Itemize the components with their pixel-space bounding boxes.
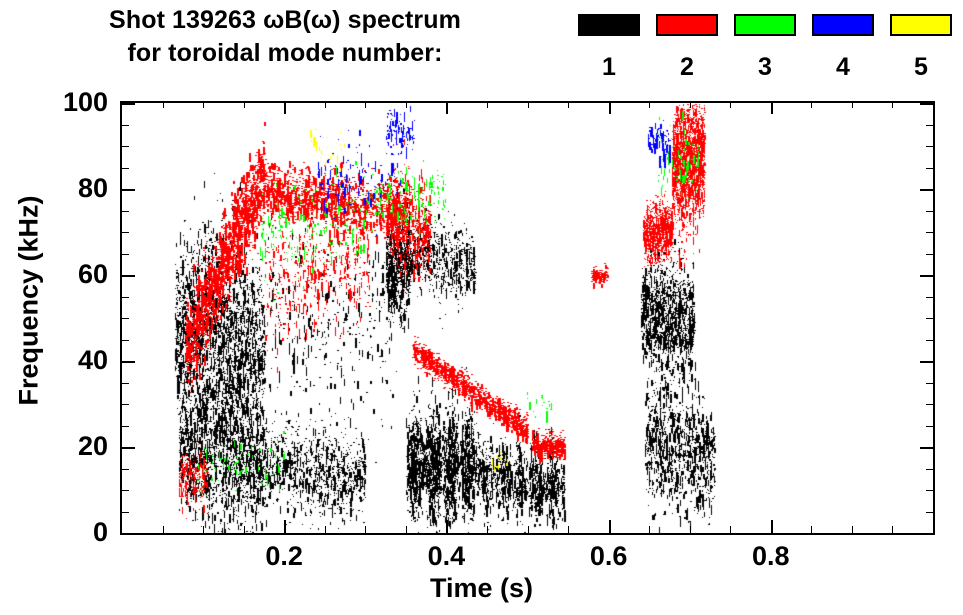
spectrogram-figure: Shot 139263 ωB(ω) spectrum for toroidal … [0,0,963,615]
y-minor-tick-right [926,211,933,212]
y-minor-tick-right [926,340,933,341]
y-major-tick [122,189,135,191]
y-major-tick [122,447,135,449]
y-minor-tick [122,383,129,384]
figure-title: Shot 139263 ωB(ω) spectrum for toroidal … [0,4,570,70]
x-major-tick-top [609,101,611,114]
title-line-2: for toroidal mode number: [0,37,570,70]
y-minor-tick-right [926,383,933,384]
legend-label-n-equals-2: 2 [656,54,718,80]
y-minor-tick [122,125,129,126]
y-tick-label: 100 [16,87,108,117]
x-tick-label: 0.4 [401,541,491,571]
x-minor-tick-top [487,101,488,108]
x-minor-tick-top [690,101,691,108]
legend-swatch-n-equals-3 [734,14,796,36]
x-tick-label: 0.6 [564,541,654,571]
x-major-tick-top [446,101,448,114]
x-minor-tick [365,526,366,533]
x-major-tick [284,520,286,533]
x-minor-tick-top [406,101,407,108]
y-major-tick [122,103,135,105]
x-minor-tick [163,526,164,533]
x-minor-tick-top [811,101,812,108]
x-minor-tick [690,526,691,533]
x-tick-label: 0.2 [239,541,329,571]
y-minor-tick [122,297,129,298]
y-major-tick-right [920,189,933,191]
x-minor-tick-top [649,101,650,108]
y-minor-tick [122,340,129,341]
x-minor-tick-top [852,101,853,108]
x-axis-title: Time (s) [0,573,963,604]
legend-label-n-equals-4: 4 [812,54,874,80]
y-minor-tick [122,512,129,513]
y-minor-tick-right [926,404,933,405]
y-major-tick-right [920,447,933,449]
y-axis-title: Frequency (kHz) [14,136,45,466]
x-minor-tick [730,526,731,533]
x-minor-tick [244,526,245,533]
x-minor-tick [203,526,204,533]
y-major-tick [122,361,135,363]
y-minor-tick-right [926,168,933,169]
x-minor-tick-top [163,101,164,108]
y-minor-tick-right [926,146,933,147]
y-minor-tick-right [926,232,933,233]
y-minor-tick-right [926,125,933,126]
y-major-tick-right [920,275,933,277]
x-minor-tick [325,526,326,533]
y-minor-tick [122,404,129,405]
plot-area [120,101,935,535]
y-major-tick-right [920,103,933,105]
legend-label-n-equals-1: 1 [578,54,640,80]
y-minor-tick-right [926,512,933,513]
y-major-tick [122,275,135,277]
y-minor-tick [122,254,129,255]
x-major-tick [446,520,448,533]
x-minor-tick-top [528,101,529,108]
y-minor-tick [122,426,129,427]
x-tick-label: 0.8 [726,541,816,571]
legend-label-n-equals-3: 3 [734,54,796,80]
y-major-tick [122,533,135,535]
x-major-tick [609,520,611,533]
y-minor-tick [122,318,129,319]
x-minor-tick-top [892,101,893,108]
y-minor-tick-right [926,469,933,470]
x-minor-tick [649,526,650,533]
title-line-1: Shot 139263 ωB(ω) spectrum [0,4,570,37]
x-minor-tick-top [325,101,326,108]
x-minor-tick [406,526,407,533]
y-minor-tick-right [926,490,933,491]
legend-swatch-n-equals-2 [656,14,718,36]
y-minor-tick-right [926,254,933,255]
y-tick-label: 0 [16,517,108,547]
x-minor-tick [811,526,812,533]
y-minor-tick [122,232,129,233]
y-minor-tick [122,211,129,212]
y-minor-tick-right [926,318,933,319]
legend-swatch-n-equals-4 [812,14,874,36]
x-minor-tick [528,526,529,533]
legend-label-n-equals-5: 5 [890,54,952,80]
x-minor-tick-top [568,101,569,108]
x-minor-tick [568,526,569,533]
x-minor-tick-top [365,101,366,108]
x-minor-tick [487,526,488,533]
legend-swatch-n-equals-5 [890,14,952,36]
y-major-tick-right [920,361,933,363]
spectrogram-canvas [122,103,933,533]
x-major-tick [771,520,773,533]
title-line-1-text: Shot 139263 ωB(ω) spectrum [109,6,461,34]
x-minor-tick [852,526,853,533]
legend: 12345 [578,8,958,88]
y-minor-tick [122,469,129,470]
x-minor-tick-top [730,101,731,108]
y-minor-tick-right [926,297,933,298]
y-major-tick-right [920,533,933,535]
x-minor-tick-top [244,101,245,108]
legend-swatch-n-equals-1 [578,14,640,36]
y-minor-tick [122,146,129,147]
y-minor-tick [122,490,129,491]
x-minor-tick-top [203,101,204,108]
x-major-tick-top [771,101,773,114]
x-minor-tick [892,526,893,533]
y-minor-tick-right [926,426,933,427]
x-major-tick-top [284,101,286,114]
y-minor-tick [122,168,129,169]
